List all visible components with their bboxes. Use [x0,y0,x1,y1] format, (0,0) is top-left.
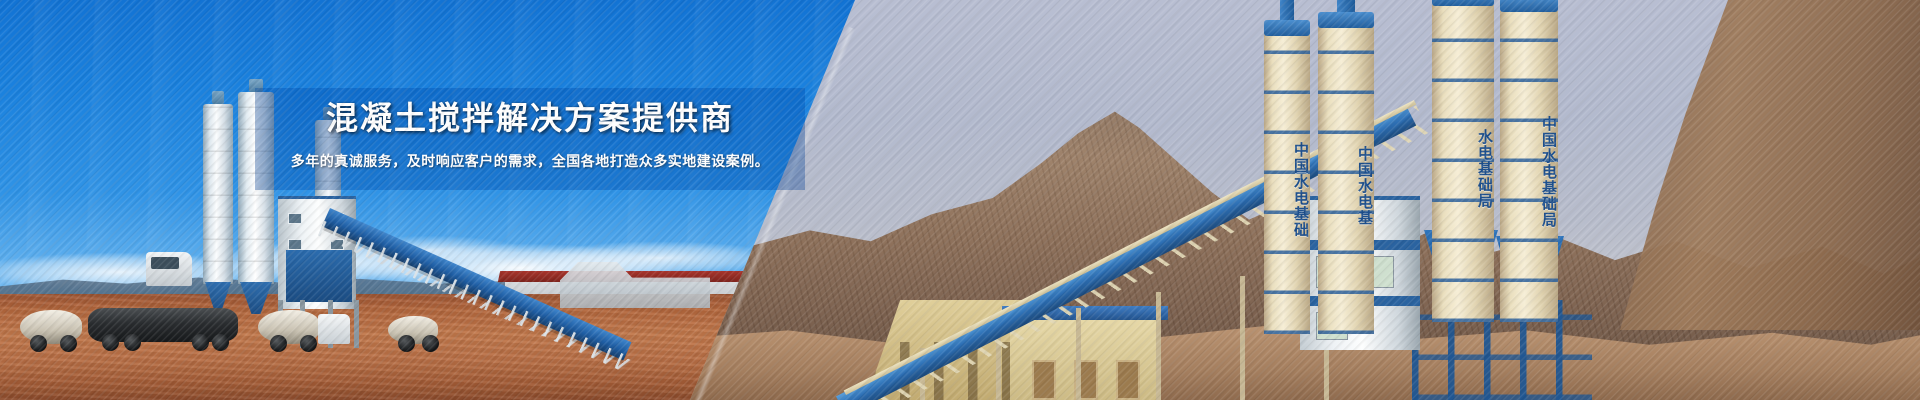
right-silo-3: 水电基础局 [1432,4,1494,322]
truck-wheel [124,334,141,351]
truck-wheel [192,334,209,351]
silo-left-a [203,104,233,284]
concrete-mixer-truck [258,310,320,344]
silo-label-2: 中国水电基 [1318,52,1374,320]
banner-subtitle: 多年的真诚服务，及时响应客户的需求，全国各地打造众多实地建设案例。 [230,150,830,172]
cement-tanker-truck [88,308,238,342]
right-silo-4: 中国水电基础局 [1500,10,1558,322]
rock-cliff-face [1620,0,1920,330]
hero-banner: 中国水电基础 中国水电基 水电基础局 中国水电基础局 混凝土搅拌解决方案提供商 … [0,0,1920,400]
truck-wheel [300,335,317,352]
truck-wheel [398,335,415,352]
silo-cap-icon [212,91,224,104]
silo-label-4: 中国水电基础局 [1500,36,1558,308]
truck-cab [146,252,192,286]
truck-wheel [270,335,287,352]
silo-label-3: 水电基础局 [1432,30,1494,308]
silo-bands [203,104,233,284]
concrete-mixer-truck [20,310,82,344]
right-silo-2: 中国水电基 [1318,26,1374,334]
silo-label-1: 中国水电基础 [1264,60,1310,320]
truck-wheel [102,334,119,351]
mixer-unit [286,250,352,302]
right-silo-1: 中国水电基础 [1264,34,1310,334]
tower-window [288,213,302,224]
truck-wheel [30,335,47,352]
tower-window [288,239,302,250]
concrete-mixer-truck [388,316,438,344]
banner-title: 混凝土搅拌解决方案提供商 [255,96,805,140]
truck-wheel [212,334,229,351]
truck-wheel [60,335,77,352]
auxiliary-plant-structure [560,262,710,308]
truck-cab [318,314,350,344]
truck-wheel [422,335,439,352]
